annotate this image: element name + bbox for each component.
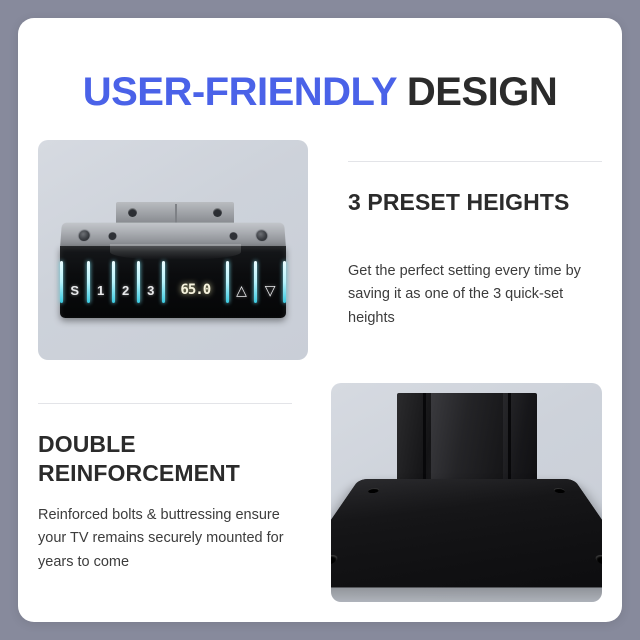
divider-preset-heights bbox=[348, 161, 602, 162]
height-display: 65.0 bbox=[165, 266, 226, 298]
screw-left-icon bbox=[77, 229, 91, 242]
mount-base-illustration bbox=[359, 393, 574, 591]
controller-button-1[interactable]: 1 bbox=[90, 268, 112, 297]
bracket-slot bbox=[175, 204, 177, 224]
page-root: USER-FRIENDLY DESIGN S bbox=[0, 0, 640, 640]
bracket-hole-left bbox=[128, 208, 137, 217]
controller-button-2[interactable]: 2 bbox=[115, 268, 137, 297]
controller-button-3[interactable]: 3 bbox=[140, 268, 162, 297]
controller-button-down[interactable]: ▽ bbox=[257, 267, 283, 297]
screw-hole-inner-left-icon bbox=[108, 232, 116, 240]
mount-base-photo-panel bbox=[331, 383, 602, 602]
heading-preset-heights: 3 PRESET HEIGHTS bbox=[348, 188, 598, 217]
body-preset-heights: Get the perfect setting every time by sa… bbox=[348, 260, 602, 330]
controller-photo-panel: S 1 2 3 65.0 △ ▽ bbox=[38, 140, 308, 360]
controller-keypad: S 1 2 3 65.0 △ ▽ bbox=[60, 246, 286, 318]
page-title-highlight: USER-FRIENDLY bbox=[83, 70, 397, 114]
controller-illustration: S 1 2 3 65.0 △ ▽ bbox=[60, 202, 286, 318]
screw-right-icon bbox=[255, 229, 269, 242]
screw-hole-inner-right-icon bbox=[229, 232, 237, 240]
bracket-hole-right bbox=[213, 208, 222, 217]
feature-card: USER-FRIENDLY DESIGN S bbox=[18, 18, 622, 622]
bolt-hole-icon bbox=[594, 555, 602, 565]
divider-double-reinforcement bbox=[38, 403, 292, 404]
bolt-hole-icon bbox=[331, 555, 339, 565]
controller-button-s[interactable]: S bbox=[63, 268, 87, 297]
body-double-reinforcement: Reinforced bolts & buttressing ensure yo… bbox=[38, 504, 310, 574]
bolt-hole-icon bbox=[367, 488, 380, 493]
page-title: USER-FRIENDLY DESIGN bbox=[18, 70, 622, 115]
page-title-rest: DESIGN bbox=[407, 70, 557, 114]
controller-button-up[interactable]: △ bbox=[229, 267, 255, 297]
controller-mount-bracket bbox=[116, 202, 234, 224]
heading-double-reinforcement: DOUBLE REINFORCEMENT bbox=[38, 430, 298, 489]
led-divider-icon bbox=[283, 261, 286, 303]
mount-base-plate bbox=[331, 479, 602, 587]
bolt-hole-icon bbox=[553, 488, 566, 493]
